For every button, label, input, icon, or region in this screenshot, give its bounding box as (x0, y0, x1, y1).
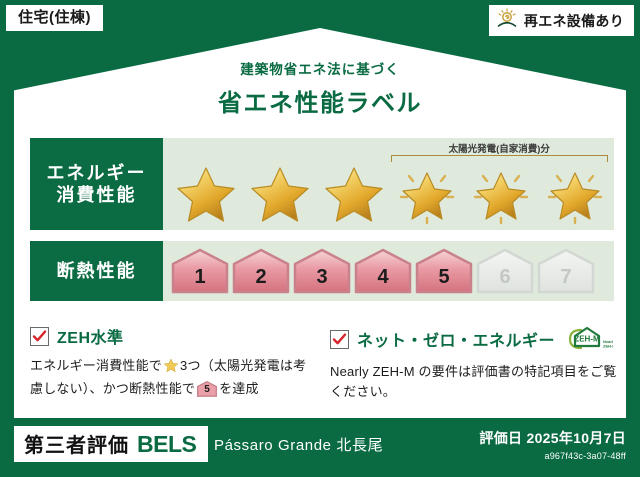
bels-certification-chip: 第三者評価 BELS (14, 426, 208, 462)
insulation-level-value: 6 (499, 266, 510, 294)
evaluation-date: 評価日 2025年10月7日 (479, 428, 626, 448)
nze-criteria-header: ネット・ゼロ・エネルギー ZEH-M Nearly ZEH-M (330, 324, 622, 354)
energy-performance-label-box: エネルギー 消費性能 (30, 138, 163, 230)
insulation-level-value: 5 (438, 266, 449, 294)
bels-jp-label: 第三者評価 (24, 429, 129, 458)
insulation-house-5: 5 (415, 248, 473, 294)
title-main: 省エネ性能ラベル (0, 83, 640, 118)
insulation-house-7: 7 (537, 248, 595, 294)
star-3 (321, 161, 387, 225)
inline-star-icon (163, 357, 179, 379)
zeh-m-logo-icon: ZEH-M Nearly ZEH-M (563, 324, 613, 354)
insulation-level-value: 1 (194, 266, 205, 294)
svg-text:ZEH-M: ZEH-M (574, 335, 600, 344)
zeh-criteria-header: ZEH水準 (30, 324, 312, 348)
zeh-checkbox[interactable] (30, 327, 49, 346)
title-block: 建築物省エネ法に基づく 省エネ性能ラベル (0, 58, 640, 118)
sun-icon (496, 8, 518, 33)
bels-en-label: BELS (137, 431, 196, 458)
housing-type-tag: 住宅(住棟) (6, 5, 103, 31)
insulation-level-value: 2 (255, 266, 266, 294)
energy-rating-area: 太陽光発電(自家消費)分 (163, 138, 614, 230)
evaluation-id: a967f43c-3a07-48ff (479, 451, 626, 461)
net-zero-energy-criteria-block: ネット・ゼロ・エネルギー ZEH-M Nearly ZEH-M Nearly Z… (330, 324, 622, 402)
evaluation-info: 評価日 2025年10月7日 a967f43c-3a07-48ff (479, 428, 626, 461)
star-rating-group (163, 143, 614, 225)
insulation-house-1: 1 (171, 248, 229, 294)
insulation-rating-area: 1 2 3 4 (163, 241, 614, 301)
zeh-text-post: を達成 (219, 381, 259, 396)
star-6-solar (542, 161, 608, 225)
property-name: Pássaro Grande 北長尾 (214, 434, 383, 455)
housing-type-label: 住宅(住棟) (18, 9, 91, 26)
insulation-house-6: 6 (476, 248, 534, 294)
zeh-criteria-block: ZEH水準 エネルギー消費性能で3つ（太陽光発電は考慮しない）、かつ断熱性能で5… (30, 324, 312, 399)
inline-house-icon: 5 (197, 381, 217, 397)
renewable-equipment-badge: 再エネ設備あり (489, 5, 634, 36)
energy-performance-label: 住宅(住棟) 再エネ設備あり 建築物省エネ法に基づく 省エネ性能ラベル (0, 0, 640, 477)
nze-criteria-text: Nearly ZEH-M の要件は評価書の特記項目をご覧ください。 (330, 362, 622, 402)
inline-house-value: 5 (197, 381, 217, 397)
insulation-performance-row: 断熱性能 (30, 241, 614, 301)
footer-bar: 第三者評価 BELS Pássaro Grande 北長尾 評価日 2025年1… (0, 418, 640, 477)
energy-label-line1: エネルギー (47, 162, 147, 185)
star-5-solar (468, 161, 534, 225)
energy-performance-row: エネルギー 消費性能 太陽光発電(自家消費)分 (30, 138, 614, 230)
insulation-house-2: 2 (232, 248, 290, 294)
insulation-level-value: 3 (316, 266, 327, 294)
insulation-house-3: 3 (293, 248, 351, 294)
insulation-house-4: 4 (354, 248, 412, 294)
energy-label-line2: 消費性能 (57, 184, 137, 207)
zeh-criteria-text: エネルギー消費性能で3つ（太陽光発電は考慮しない）、かつ断熱性能で5を達成 (30, 356, 312, 399)
insulation-level-group: 1 2 3 4 (163, 248, 595, 294)
insulation-performance-label-box: 断熱性能 (30, 241, 163, 301)
insulation-level-value: 7 (560, 266, 571, 294)
svg-text:ZEH-M: ZEH-M (603, 344, 613, 349)
insulation-level-value: 4 (377, 266, 388, 294)
zeh-text-pre: エネルギー消費性能で (30, 358, 162, 373)
nze-criteria-title: ネット・ゼロ・エネルギー (357, 327, 555, 351)
insulation-label: 断熱性能 (57, 260, 137, 283)
star-2 (247, 161, 313, 225)
zeh-criteria-title: ZEH水準 (57, 324, 124, 348)
star-4-solar (394, 161, 460, 225)
title-subtitle: 建築物省エネ法に基づく (0, 58, 640, 78)
renewable-badge-label: 再エネ設備あり (524, 11, 624, 31)
nze-checkbox[interactable] (330, 330, 349, 349)
star-1 (173, 161, 239, 225)
